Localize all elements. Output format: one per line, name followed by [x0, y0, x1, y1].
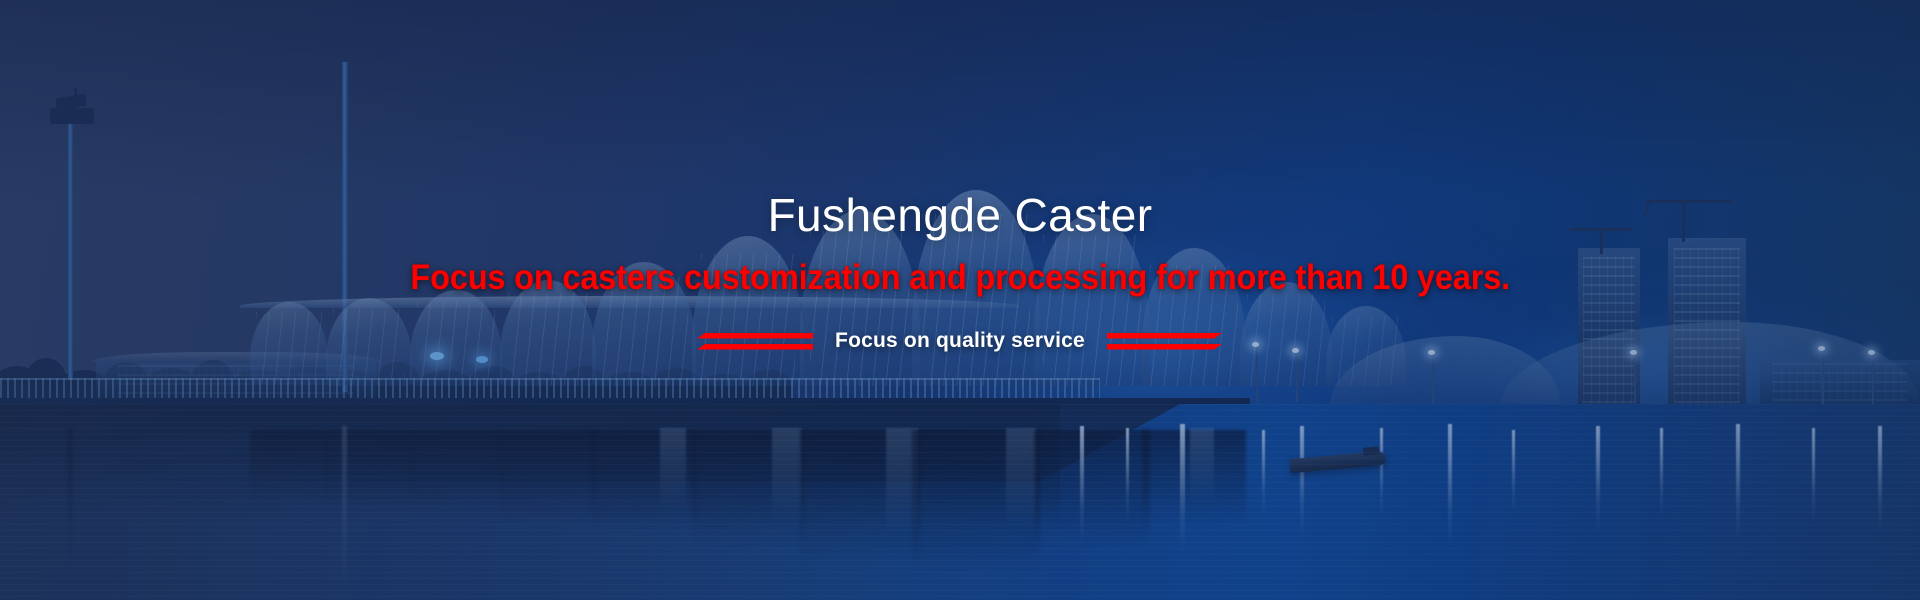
bar-icon [697, 333, 813, 339]
right-decorative-bars [1107, 333, 1223, 350]
hero-banner: Fushengde Caster Focus on casters custom… [0, 0, 1920, 600]
banner-subtitle: Focus on casters customization and proce… [410, 260, 1510, 295]
banner-title: Fushengde Caster [768, 192, 1153, 238]
bar-icon [697, 344, 813, 350]
banner-tagline: Focus on quality service [835, 329, 1085, 353]
left-decorative-bars [697, 333, 813, 350]
bar-icon [1107, 333, 1223, 339]
banner-content: Fushengde Caster Focus on casters custom… [0, 0, 1920, 600]
bar-icon [1107, 344, 1223, 350]
tagline-row: Focus on quality service [697, 329, 1223, 353]
